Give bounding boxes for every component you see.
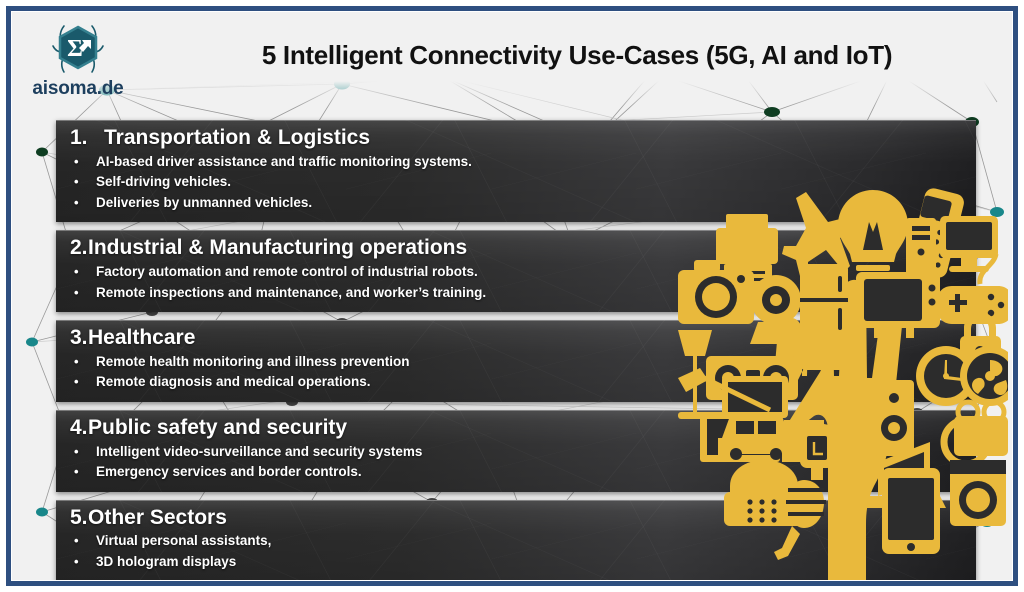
bullet-marker-icon: • xyxy=(70,152,96,172)
panel-title: Healthcare xyxy=(88,326,195,351)
bullet-text: Self-driving vehicles. xyxy=(96,172,231,193)
bullet-item: •Remote health monitoring and illness pr… xyxy=(70,352,962,373)
panel-number: 1. xyxy=(70,126,104,151)
panel-bullet-list: •Virtual personal assistants,•3D hologra… xyxy=(70,531,962,572)
panel-heading: 3.Healthcare xyxy=(70,326,962,351)
use-case-panel-5[interactable]: 5.Other Sectors•Virtual personal assista… xyxy=(56,500,976,580)
bullet-marker-icon: • xyxy=(70,283,96,303)
bullet-marker-icon: • xyxy=(70,552,96,572)
bullet-marker-icon: • xyxy=(70,172,96,192)
panel-heading: 4.Public safety and security xyxy=(70,416,962,441)
bullet-text: Remote health monitoring and illness pre… xyxy=(96,352,410,373)
slide-canvas: Σ aisoma.de 5 Intelligent Connectivity U… xyxy=(12,12,1012,580)
bullet-item: •AI-based driver assistance and traffic … xyxy=(70,152,962,173)
page-title: 5 Intelligent Connectivity Use-Cases (5G… xyxy=(162,40,992,71)
panel-number: 4. xyxy=(70,416,88,441)
panel-number: 5. xyxy=(70,506,88,531)
panel-heading: 2.Industrial & Manufacturing operations xyxy=(70,236,962,261)
bullet-item: •Emergency services and border controls. xyxy=(70,462,962,483)
brand-name: aisoma.de xyxy=(20,78,136,100)
panel-title: Industrial & Manufacturing operations xyxy=(88,236,467,261)
slide-root: Σ aisoma.de 5 Intelligent Connectivity U… xyxy=(0,0,1024,592)
aisoma-hexagon-sigma-logo-icon: Σ xyxy=(46,16,110,80)
bullet-item: •Remote diagnosis and medical operations… xyxy=(70,372,962,393)
bullet-item: •Deliveries by unmanned vehicles. xyxy=(70,193,962,214)
bullet-item: •Self-driving vehicles. xyxy=(70,172,962,193)
panel-number: 2. xyxy=(70,236,88,261)
bullet-text: Emergency services and border controls. xyxy=(96,462,362,483)
bullet-marker-icon: • xyxy=(70,372,96,392)
use-case-panel-2[interactable]: 2.Industrial & Manufacturing operations•… xyxy=(56,230,976,312)
bullet-item: •Factory automation and remote control o… xyxy=(70,262,962,283)
panel-title: Transportation & Logistics xyxy=(104,126,370,151)
bullet-text: Factory automation and remote control of… xyxy=(96,262,478,283)
bullet-marker-icon: • xyxy=(70,262,96,282)
panel-heading: 1.Transportation & Logistics xyxy=(70,126,962,151)
bullet-text: 3D hologram displays xyxy=(96,552,236,573)
bullet-item: •Intelligent video-surveillance and secu… xyxy=(70,442,962,463)
bullet-item: •Virtual personal assistants, xyxy=(70,531,962,552)
panel-title: Other Sectors xyxy=(88,506,227,531)
bullet-item: •3D hologram displays xyxy=(70,552,962,573)
use-case-panel-4[interactable]: 4.Public safety and security•Intelligent… xyxy=(56,410,976,492)
bullet-text: AI-based driver assistance and traffic m… xyxy=(96,152,472,173)
bullet-marker-icon: • xyxy=(70,531,96,551)
bullet-marker-icon: • xyxy=(70,462,96,482)
bullet-marker-icon: • xyxy=(70,193,96,213)
panel-bullet-list: •Remote health monitoring and illness pr… xyxy=(70,352,962,393)
panel-title: Public safety and security xyxy=(88,416,347,441)
bullet-text: Deliveries by unmanned vehicles. xyxy=(96,193,312,214)
bullet-text: Remote diagnosis and medical operations. xyxy=(96,372,371,393)
panel-bullet-list: •Factory automation and remote control o… xyxy=(70,262,962,303)
bullet-text: Remote inspections and maintenance, and … xyxy=(96,283,486,304)
use-case-panel-3[interactable]: 3.Healthcare•Remote health monitoring an… xyxy=(56,320,976,402)
panel-bullet-list: •AI-based driver assistance and traffic … xyxy=(70,152,962,214)
bullet-text: Virtual personal assistants, xyxy=(96,531,271,552)
bullet-marker-icon: • xyxy=(70,442,96,462)
bullet-text: Intelligent video-surveillance and secur… xyxy=(96,442,422,463)
bullet-marker-icon: • xyxy=(70,352,96,372)
brand-logo-block[interactable]: Σ aisoma.de xyxy=(20,16,136,100)
panel-number: 3. xyxy=(70,326,88,351)
panel-heading: 5.Other Sectors xyxy=(70,506,962,531)
use-case-panel-list: 1.Transportation & Logistics•AI-based dr… xyxy=(56,120,976,580)
panel-bullet-list: •Intelligent video-surveillance and secu… xyxy=(70,442,962,483)
bullet-item: •Remote inspections and maintenance, and… xyxy=(70,283,962,304)
use-case-panel-1[interactable]: 1.Transportation & Logistics•AI-based dr… xyxy=(56,120,976,222)
